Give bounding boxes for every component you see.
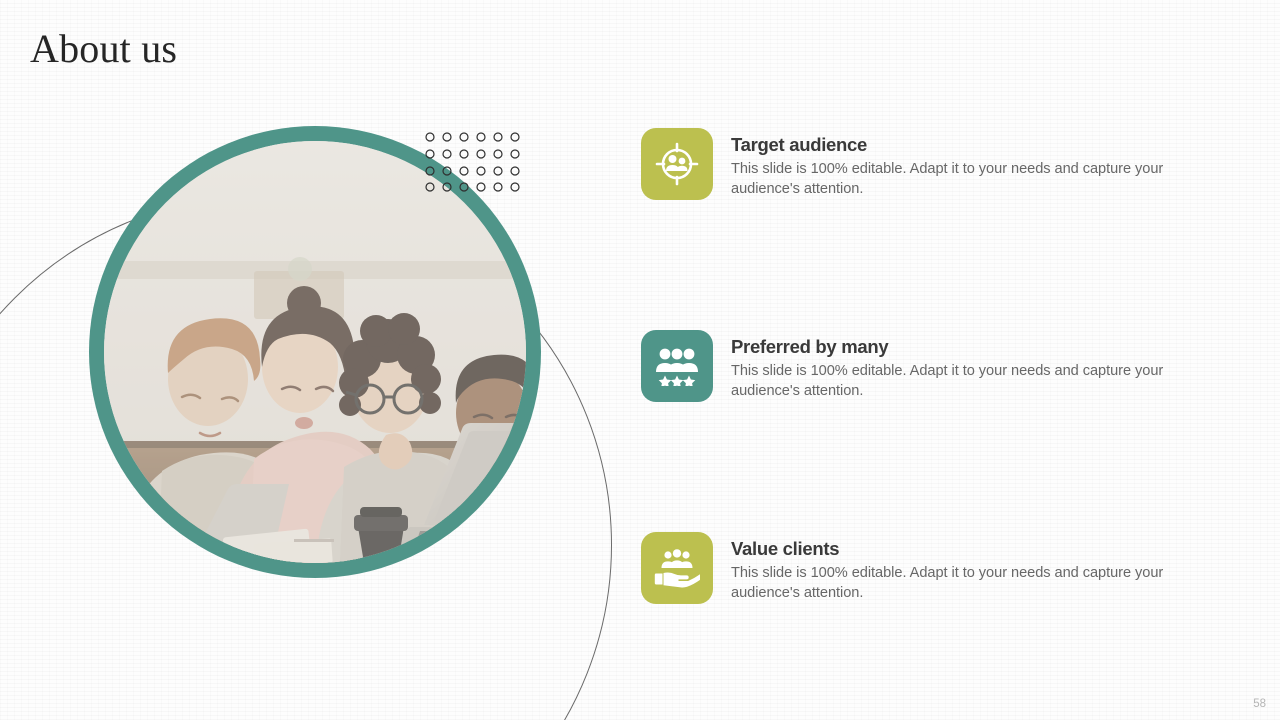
team-photo-ring [89, 126, 541, 578]
feature-body: This slide is 100% editable. Adapt it to… [731, 160, 1183, 199]
feature-heading: Value clients [731, 538, 1183, 560]
feature-text-block: Preferred by many This slide is 100% edi… [731, 330, 1183, 401]
page-number: 58 [1253, 698, 1266, 710]
target-audience-icon-tile[interactable] [641, 128, 713, 200]
feature-item-value-clients[interactable]: Value clients This slide is 100% editabl… [641, 532, 1201, 604]
feature-heading: Target audience [731, 134, 1183, 156]
feature-item-preferred-by-many[interactable]: Preferred by many This slide is 100% edi… [641, 330, 1201, 402]
hand-holding-people-icon [654, 548, 700, 588]
page-title: About us [30, 24, 177, 74]
target-audience-icon [655, 142, 699, 186]
feature-text-block: Value clients This slide is 100% editabl… [731, 532, 1183, 603]
feature-body: This slide is 100% editable. Adapt it to… [731, 564, 1183, 603]
people-rating-stars-icon [655, 346, 699, 386]
feature-heading: Preferred by many [731, 336, 1183, 358]
feature-body: This slide is 100% editable. Adapt it to… [731, 362, 1183, 401]
feature-text-block: Target audience This slide is 100% edita… [731, 128, 1183, 199]
hand-holding-people-icon-tile[interactable] [641, 532, 713, 604]
feature-item-target-audience[interactable]: Target audience This slide is 100% edita… [641, 128, 1201, 200]
team-collaboration-photo [104, 141, 526, 563]
dot-grid-decoration [424, 131, 524, 193]
people-rating-stars-icon-tile[interactable] [641, 330, 713, 402]
